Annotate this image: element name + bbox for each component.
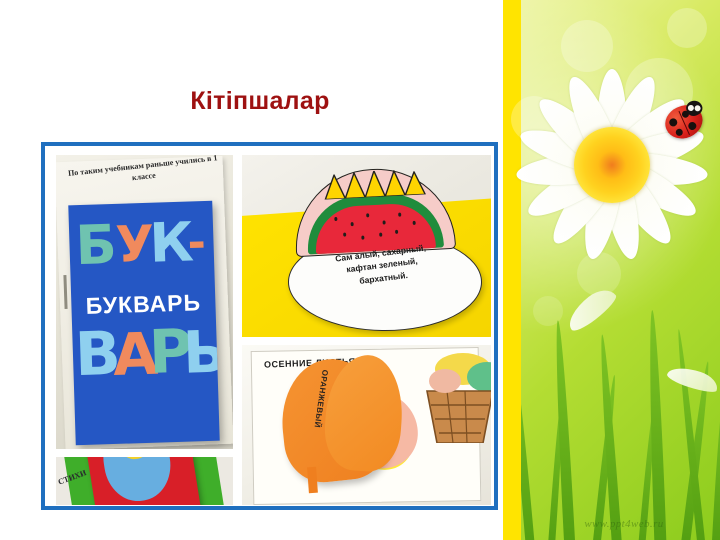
watermelon-seed — [334, 217, 337, 221]
watermelon-seed — [395, 230, 398, 234]
photo-collage-frame: По таким учебникам раньше учились в 1 кл… — [41, 142, 498, 510]
photo-bukvar: По таким учебникам раньше учились в 1 кл… — [56, 155, 233, 449]
photo-red-book: КРАСНАЯ СТИХИ — [56, 457, 233, 505]
red-book-background: КРАСНАЯ СТИХИ — [56, 457, 233, 505]
falling-petal — [665, 362, 720, 395]
watermelon-crown-decoration — [322, 168, 427, 199]
grass-blade — [521, 350, 536, 540]
ladybug-eye — [694, 104, 702, 112]
watermelon-seed — [366, 213, 369, 217]
grass-blade — [711, 384, 720, 540]
bukvar-title-row-3: В А Р Ь — [72, 321, 219, 435]
slide-root: Кітіпшалар По таким учебникам раньше учи… — [0, 0, 720, 540]
photo-watermelon-riddle: Сам алый, сахарный, кафтан зеленый, барх… — [242, 155, 491, 337]
watermelon-seed — [383, 220, 386, 224]
orange-leaf-stem — [307, 467, 318, 494]
watermelon-seed — [361, 236, 364, 240]
watermelon-seed — [398, 213, 401, 217]
bukvar-title-row-1: Б У К - — [68, 207, 214, 285]
bukvar-word-bukvar: БУКВАРЬ — [71, 289, 216, 321]
photo-grid: По таким учебникам раньше учились в 1 кл… — [56, 155, 491, 505]
basket-illustration — [417, 351, 491, 443]
watermelon-seed — [351, 222, 354, 226]
photo-orange-leaf: ОСЕННИЕ ЛИСТЬЯ ОРАНЖЕВЫЙ — [242, 345, 491, 505]
watermelon-seed — [413, 221, 416, 225]
bukvar-letter-soft: Ь — [182, 322, 220, 381]
floral-side-panel: www.ppt4web.ru — [503, 0, 720, 540]
page-title: Кітіпшалар — [50, 88, 470, 116]
daisy-flower — [503, 0, 720, 330]
bukvar-letter-B: Б — [75, 218, 118, 273]
daisy-center — [574, 127, 650, 203]
watermelon-seed — [379, 233, 382, 237]
bukvar-book-cover: Б У К - БУКВАРЬ В А Р Ь — [68, 201, 219, 445]
site-watermark: www.ppt4web.ru — [539, 518, 709, 530]
watermelon-seed — [343, 232, 346, 236]
bukvar-letter-dash: - — [187, 221, 207, 266]
